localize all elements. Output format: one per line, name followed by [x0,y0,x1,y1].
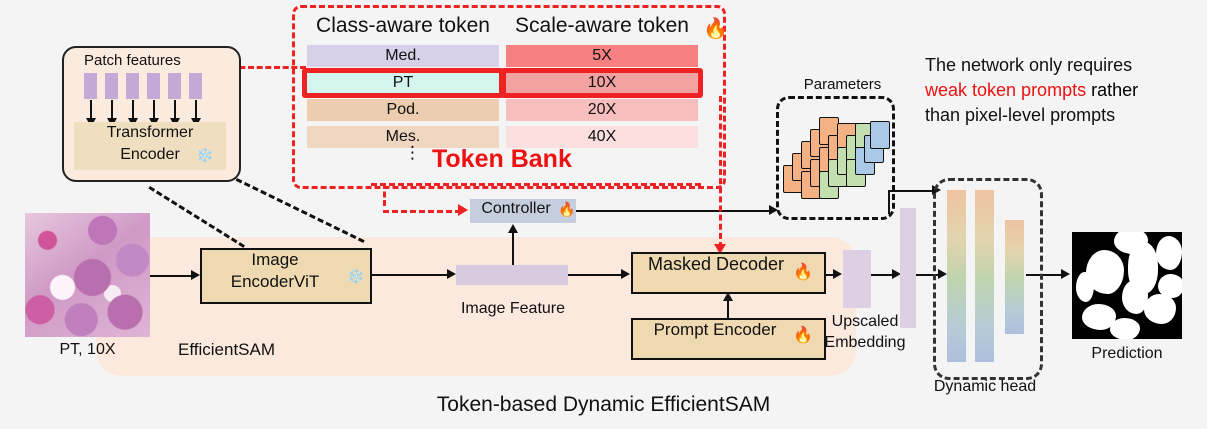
fire-icon: 🔥 [793,262,813,282]
upscaled-embedding-bar [843,250,871,308]
patch-feature-bar [189,73,202,99]
efficientsam-panel-label: EfficientSAM [178,340,275,360]
connector-feature-to-decoder [568,274,622,276]
masked-decoder-label: Masked Decoder [631,254,801,275]
scale-token-row[interactable]: 20X [506,99,698,121]
image-encoder-line2: EncoderViT [200,272,350,292]
feature-tall-bar [900,208,916,328]
note-line-3: than pixel-level prompts [925,105,1115,126]
token-bank-class-header: Class-aware token [305,14,501,38]
image-feature-bar [456,265,568,285]
connector-parameters-to-dynamichead [888,190,936,192]
patch-feature-bar [105,73,118,99]
red-flow-bank-to-controller [383,210,461,213]
snowflake-icon: ❄️ [196,147,213,164]
patch-features-label: Patch features [84,52,181,69]
dynamic-head-bar [947,190,966,362]
dynamic-head-bar [975,190,994,362]
transformer-encoder-line1: Transformer [74,124,226,142]
controller-label: Controller [470,200,562,218]
class-token-row[interactable]: Pod. [307,99,499,121]
class-token-label: Med. [385,47,421,65]
patch-feature-bar [147,73,160,99]
prediction-caption: Prediction [1062,345,1192,363]
fire-icon: 🔥 [558,201,575,218]
arrowhead [508,224,518,233]
fire-icon: 🔥 [793,328,813,344]
patch-feature-bar [84,73,97,99]
patch-feature-bar [126,73,139,99]
token-bank-scale-header: Scale-aware token [504,14,700,38]
scale-token-row[interactable]: 5X [506,45,698,67]
connector-feature-to-controller [512,232,514,268]
scale-token-selection-highlight [501,68,703,98]
note-line-1: The network only requires [925,55,1132,76]
diagram-canvas: EfficientSAM Class-aware token [0,0,1207,429]
class-token-row[interactable]: Med. [307,45,499,67]
patch-feature-bar [168,73,181,99]
note-line-2-rest: rather [1086,80,1138,100]
arrowhead [833,269,842,279]
dynamic-head-bar [1005,220,1024,334]
scale-token-label: 40X [588,128,616,146]
scale-token-label: 20X [588,101,616,119]
arrowhead [447,269,456,279]
connector-encoder-to-feature [372,274,448,276]
arrowhead-red [458,204,468,216]
note-line-2: weak token prompts rather [925,80,1138,101]
connector-prompt-to-decoder [727,300,729,320]
class-token-selection-highlight [302,68,504,98]
prediction-mask-image [1072,232,1182,339]
arrowhead [191,270,200,280]
upscaled-embedding-line1: Upscaled [822,313,908,331]
fire-icon: 🔥 [703,16,728,41]
arrowhead [621,269,630,279]
arrowhead [1061,269,1070,279]
figure-caption: Token-based Dynamic EfficientSAM [0,393,1207,417]
parameter-cube [870,121,890,149]
input-histology-image [25,213,150,337]
parameters-container [776,96,895,220]
image-encoder-line1: Image [200,250,350,270]
scale-token-label: 5X [592,47,612,65]
prompt-encoder-label: Prompt Encoder [631,320,799,340]
connector-image-to-encoder [150,275,192,277]
class-token-label: Pod. [387,101,420,119]
snowflake-icon: ❄️ [347,268,364,285]
upscaled-embedding-line2: Embedding [812,334,918,352]
note-highlight: weak token prompts [925,80,1086,100]
parameters-label: Parameters [790,76,895,93]
image-feature-label: Image Feature [448,300,578,318]
token-bank-ellipsis: ⋮ [404,143,421,163]
connector-controller-to-parameters [576,210,772,212]
token-bank-title: Token Bank [432,145,572,174]
input-image-caption: PT, 10X [25,341,150,359]
